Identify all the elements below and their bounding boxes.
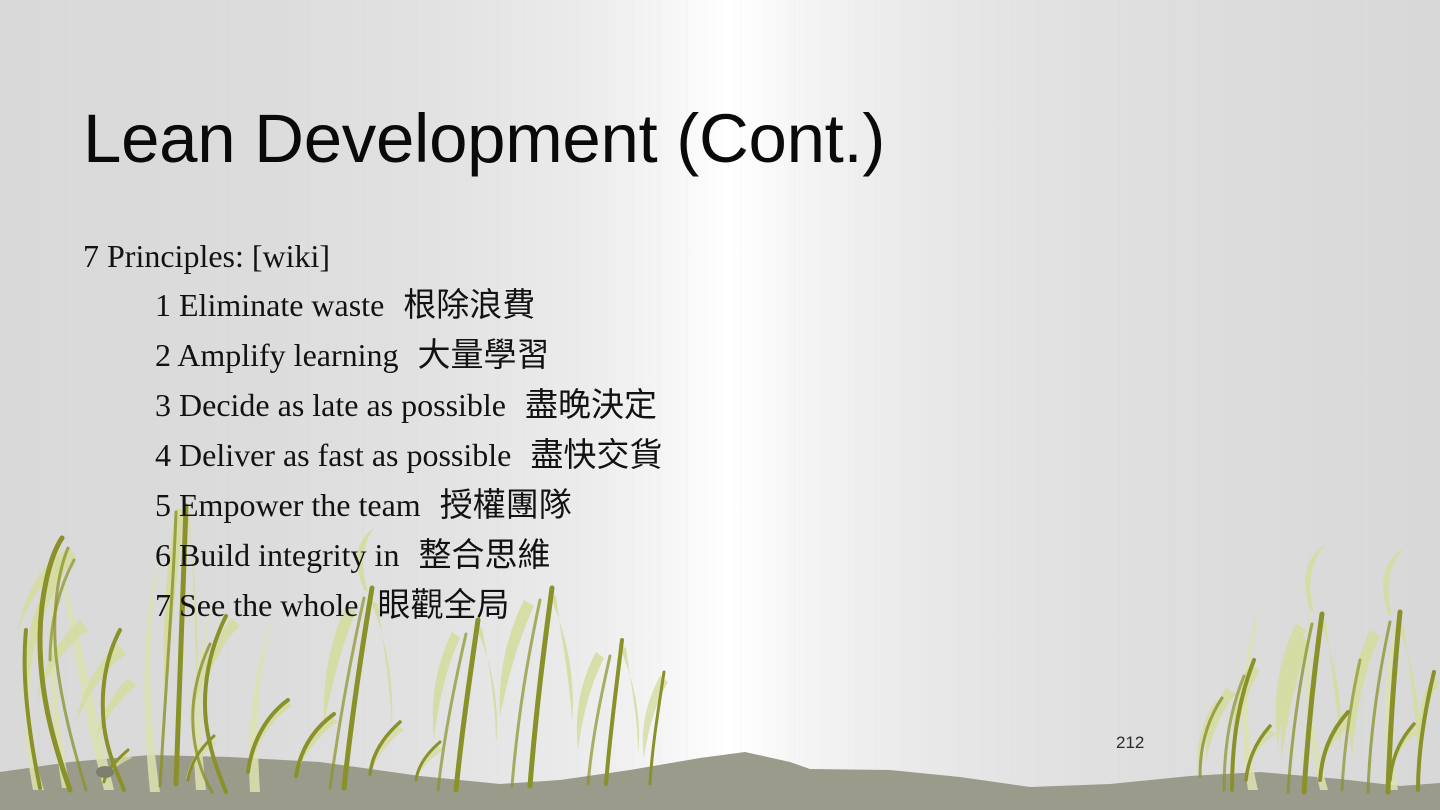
pebble-shape [96,766,114,778]
ground-hill-band [0,752,1440,810]
principle-text-zh-2: 大量學習 [407,335,550,374]
principle-text-en-6: Build integrity in [179,537,399,573]
principle-text-zh-1: 根除浪費 [392,285,535,324]
principle-text-en-5: Empower the team [179,487,421,523]
principle-item-2: 2 Amplify learning 大量學習 [155,330,1233,380]
principle-text-zh-4: 盡快交貨 [519,435,662,474]
slide-page-number: 212 [1116,733,1144,753]
page-title: Lean Development (Cont.) [83,104,1283,173]
principle-number-3: 3 [155,387,171,423]
principle-number-7: 7 [155,587,171,623]
principle-text-zh-3: 盡晚決定 [514,385,657,424]
principle-text-en-4: Deliver as fast as possible [179,437,511,473]
body-lead-line: 7 Principles: [wiki] [83,232,1233,280]
principle-number-5: 5 [155,487,171,523]
principle-text-en-7: See the whole [179,587,359,623]
principle-number-1: 1 [155,287,171,323]
principle-text-zh-6: 整合思維 [407,535,550,574]
principle-item-1: 1 Eliminate waste 根除浪費 [155,280,1233,330]
principle-item-7: 7 See the whole 眼觀全局 [155,580,1233,630]
slide-canvas: Lean Development (Cont.) 7 Principles: [… [0,0,1440,810]
principle-item-6: 6 Build integrity in 整合思維 [155,530,1233,580]
grass-cluster-right [1198,544,1440,792]
principle-text-zh-5: 授權團隊 [429,485,572,524]
principle-text-zh-7: 眼觀全局 [367,585,510,624]
principle-item-3: 3 Decide as late as possible 盡晚決定 [155,380,1233,430]
principle-text-en-3: Decide as late as possible [179,387,506,423]
principle-text-en-1: Eliminate waste [179,287,384,323]
principle-text-en-2: Amplify learning [177,337,398,373]
principle-number-6: 6 [155,537,171,573]
principle-number-4: 4 [155,437,171,473]
principle-item-5: 5 Empower the team 授權團隊 [155,480,1233,530]
principle-number-2: 2 [155,337,171,373]
principle-item-4: 4 Deliver as fast as possible 盡快交貨 [155,430,1233,480]
slide-body: 7 Principles: [wiki] 1 Eliminate waste 根… [83,232,1233,630]
